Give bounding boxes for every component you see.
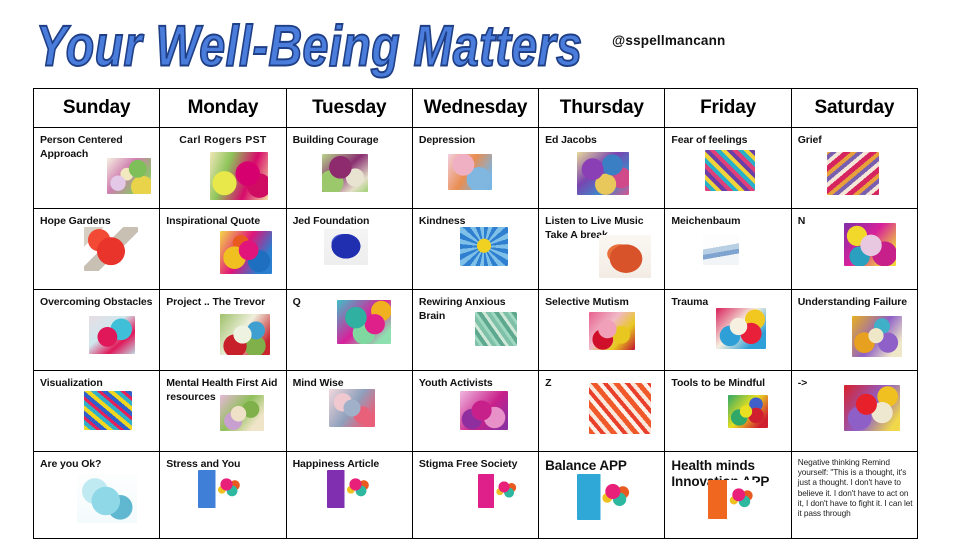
cell-label: Meichenbaum	[671, 215, 786, 229]
calendar-cell-friday-1[interactable]: Fear of feelings	[665, 128, 791, 209]
cell-thumbnail-image	[324, 229, 368, 265]
cell-thumbnail-image	[577, 152, 629, 195]
column-header-saturday: Saturday	[791, 89, 917, 128]
cell-label: Stigma Free Society	[419, 458, 534, 472]
cell-thumbnail-image	[220, 231, 272, 274]
calendar-cell-tuesday-4[interactable]: Mind Wise	[286, 371, 412, 452]
column-header-sunday: Sunday	[34, 89, 160, 128]
cell-content: Stress and You	[160, 452, 285, 538]
calendar-cell-thursday-5[interactable]: Balance APP	[539, 452, 665, 539]
calendar-cell-friday-3[interactable]: Trauma	[665, 290, 791, 371]
cell-content: Stigma Free Society	[413, 452, 538, 538]
table-row: VisualizationMental Health First Aid res…	[34, 371, 918, 452]
calendar-cell-wednesday-3[interactable]: Rewiring Anxious Brain	[412, 290, 538, 371]
calendar-cell-sunday-4[interactable]: Visualization	[34, 371, 160, 452]
cell-thumbnail-image	[84, 391, 132, 430]
cell-content: Project .. The Trevor	[160, 290, 285, 370]
calendar-cell-sunday-5[interactable]: Are you Ok?	[34, 452, 160, 539]
cell-content: Health minds Innovation APP	[665, 452, 790, 538]
calendar-cell-thursday-2[interactable]: Listen to Live Music Take A break	[539, 209, 665, 290]
cell-content: Depression	[413, 128, 538, 208]
cell-thumbnail-image	[844, 385, 900, 431]
cell-label: Are you Ok?	[40, 458, 155, 472]
cell-thumbnail-image	[322, 154, 368, 192]
column-header-monday: Monday	[160, 89, 286, 128]
cell-content: Inspirational Quote	[160, 209, 285, 289]
cell-content: Are you Ok?	[34, 452, 159, 538]
table-row: Are you Ok?Stress and YouHappiness Artic…	[34, 452, 918, 539]
cell-thumbnail-image	[589, 312, 635, 350]
cell-thumbnail-image	[708, 480, 756, 519]
table-header-row: Sunday Monday Tuesday Wednesday Thursday…	[34, 89, 918, 128]
calendar-cell-wednesday-5[interactable]: Stigma Free Society	[412, 452, 538, 539]
cell-thumbnail-image	[577, 474, 633, 520]
cell-label: Visualization	[40, 377, 155, 391]
cell-thumbnail-image	[475, 312, 517, 346]
cell-thumbnail-image	[844, 223, 896, 266]
author-handle: @sspellmancann	[612, 33, 726, 48]
calendar-cell-tuesday-2[interactable]: Jed Foundation	[286, 209, 412, 290]
cell-thumbnail-image	[448, 154, 492, 190]
cell-content: Q	[287, 290, 412, 370]
cell-thumbnail-image	[703, 235, 739, 265]
calendar-cell-monday-5[interactable]: Stress and You	[160, 452, 286, 539]
cell-thumbnail-image	[460, 391, 508, 430]
cell-content: Jed Foundation	[287, 209, 412, 289]
cell-thumbnail-image	[589, 383, 651, 434]
calendar-cell-wednesday-2[interactable]: Kindness	[412, 209, 538, 290]
cell-thumbnail-image	[210, 152, 268, 200]
cell-content: Hope Gardens	[34, 209, 159, 289]
cell-label: Selective Mutism	[545, 296, 660, 310]
cell-content: Building Courage	[287, 128, 412, 208]
table-row: Hope GardensInspirational QuoteJed Found…	[34, 209, 918, 290]
calendar-cell-monday-4[interactable]: Mental Health First Aid resources	[160, 371, 286, 452]
slide-canvas: Your Well-Being Matters @sspellmancann S…	[0, 0, 960, 540]
cell-content: Happiness Article	[287, 452, 412, 538]
cell-content: Ed Jacobs	[539, 128, 664, 208]
cell-thumbnail-image	[337, 300, 391, 344]
cell-content: Selective Mutism	[539, 290, 664, 370]
cell-label: Building Courage	[293, 134, 408, 148]
table-row: Overcoming ObstaclesProject .. The Trevo…	[34, 290, 918, 371]
cell-label: Person Centered Approach	[40, 134, 155, 161]
cell-thumbnail-image	[728, 395, 768, 428]
calendar-cell-saturday-3[interactable]: Understanding Failure	[791, 290, 917, 371]
negative-thinking-note: Negative thinking Remind yourself: "This…	[798, 457, 913, 518]
calendar-cell-tuesday-1[interactable]: Building Courage	[286, 128, 412, 209]
calendar-cell-thursday-4[interactable]: Z	[539, 371, 665, 452]
calendar-cell-saturday-2[interactable]: N	[791, 209, 917, 290]
cell-content: Listen to Live Music Take A break	[539, 209, 664, 289]
cell-label: Tools to be Mindful	[671, 377, 786, 391]
cell-label: Fear of feelings	[671, 134, 786, 148]
calendar-cell-monday-3[interactable]: Project .. The Trevor	[160, 290, 286, 371]
calendar-cell-thursday-3[interactable]: Selective Mutism	[539, 290, 665, 371]
cell-content: N	[792, 209, 917, 289]
cell-content: Rewiring Anxious Brain	[413, 290, 538, 370]
cell-thumbnail-image	[705, 150, 755, 191]
cell-thumbnail-image	[827, 152, 879, 195]
cell-label: Carl Rogers PST	[160, 134, 285, 148]
cell-label: Youth Activists	[419, 377, 534, 391]
cell-label: Jed Foundation	[293, 215, 408, 229]
cell-thumbnail-image	[852, 316, 902, 357]
cell-content: Mind Wise	[287, 371, 412, 451]
cell-content: Balance APP	[539, 452, 664, 538]
cell-content: Mental Health First Aid resources	[160, 371, 285, 451]
cell-label: Balance APP	[545, 458, 660, 474]
cell-content: Negative thinking Remind yourself: "This…	[792, 452, 917, 538]
title-block: Your Well-Being Matters	[36, 8, 516, 74]
cell-thumbnail-image	[478, 474, 520, 508]
calendar-cell-wednesday-1[interactable]: Depression	[412, 128, 538, 209]
cell-content: Tools to be Mindful	[665, 371, 790, 451]
calendar-cell-tuesday-5[interactable]: Happiness Article	[286, 452, 412, 539]
cell-content: Overcoming Obstacles	[34, 290, 159, 370]
cell-label: Inspirational Quote	[166, 215, 281, 229]
calendar-cell-saturday-4[interactable]: ->	[791, 371, 917, 452]
calendar-cell-monday-1[interactable]: Carl Rogers PST	[160, 128, 286, 209]
calendar-cell-friday-4[interactable]: Tools to be Mindful	[665, 371, 791, 452]
cell-thumbnail-image	[599, 235, 651, 278]
cell-content: Carl Rogers PST	[160, 128, 285, 208]
calendar-cell-saturday-1[interactable]: Grief	[791, 128, 917, 209]
cell-content: Understanding Failure	[792, 290, 917, 370]
cell-thumbnail-image	[460, 227, 508, 266]
cell-thumbnail-image	[84, 227, 138, 271]
cell-label: Grief	[798, 134, 913, 148]
cell-content: Visualization	[34, 371, 159, 451]
cell-content: Fear of feelings	[665, 128, 790, 208]
cell-content: ->	[792, 371, 917, 451]
calendar-cell-sunday-2[interactable]: Hope Gardens	[34, 209, 160, 290]
calendar-cell-sunday-1[interactable]: Person Centered Approach	[34, 128, 160, 209]
cell-thumbnail-image	[327, 470, 373, 508]
cell-content: Trauma	[665, 290, 790, 370]
cell-content: Grief	[792, 128, 917, 208]
page-title: Your Well-Being Matters	[36, 8, 511, 84]
calendar-cell-saturday-5[interactable]: Negative thinking Remind yourself: "This…	[791, 452, 917, 539]
cell-label: Depression	[419, 134, 534, 148]
column-header-wednesday: Wednesday	[412, 89, 538, 128]
calendar-cell-wednesday-4[interactable]: Youth Activists	[412, 371, 538, 452]
cell-thumbnail-image	[198, 470, 244, 508]
calendar-cell-thursday-1[interactable]: Ed Jacobs	[539, 128, 665, 209]
cell-thumbnail-image	[107, 158, 151, 194]
calendar-cell-monday-2[interactable]: Inspirational Quote	[160, 209, 286, 290]
cell-content: Kindness	[413, 209, 538, 289]
cell-content: Meichenbaum	[665, 209, 790, 289]
calendar-cell-friday-5[interactable]: Health minds Innovation APP	[665, 452, 791, 539]
cell-thumbnail-image	[89, 316, 135, 354]
table-body: Person Centered ApproachCarl Rogers PSTB…	[34, 128, 918, 539]
cell-thumbnail-image	[716, 308, 766, 349]
cell-thumbnail-image	[77, 474, 137, 523]
cell-label: Project .. The Trevor	[166, 296, 281, 310]
column-header-friday: Friday	[665, 89, 791, 128]
calendar-cell-sunday-3[interactable]: Overcoming Obstacles	[34, 290, 160, 371]
calendar-cell-friday-2[interactable]: Meichenbaum	[665, 209, 791, 290]
cell-thumbnail-image	[220, 314, 270, 355]
cell-thumbnail-image	[220, 395, 264, 431]
cell-label: Overcoming Obstacles	[40, 296, 155, 310]
cell-thumbnail-image	[329, 389, 375, 427]
cell-label: Ed Jacobs	[545, 134, 660, 148]
table-row: Person Centered ApproachCarl Rogers PSTB…	[34, 128, 918, 209]
wellbeing-calendar-table: Sunday Monday Tuesday Wednesday Thursday…	[33, 88, 918, 539]
cell-content: Youth Activists	[413, 371, 538, 451]
column-header-thursday: Thursday	[539, 89, 665, 128]
cell-content: Z	[539, 371, 664, 451]
calendar-cell-tuesday-3[interactable]: Q	[286, 290, 412, 371]
cell-label: Understanding Failure	[798, 296, 913, 310]
column-header-tuesday: Tuesday	[286, 89, 412, 128]
cell-content: Person Centered Approach	[34, 128, 159, 208]
